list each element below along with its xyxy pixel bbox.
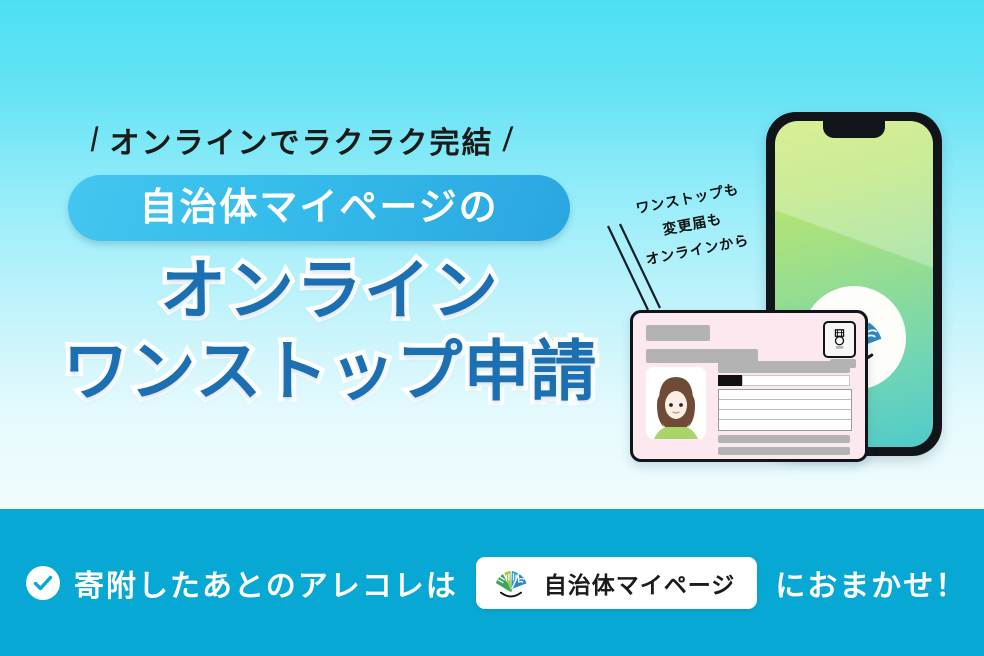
- footer-bar: 寄附したあとのアレコレは 自治体マイページ におまかせ！: [0, 509, 984, 656]
- jichitai-mypage-logo-chip[interactable]: 自治体マイページ: [476, 557, 758, 609]
- my-number-card: [630, 310, 868, 462]
- card-text-lines: [718, 389, 852, 431]
- phone-notch: [823, 121, 885, 138]
- headline-line-2: ワンストップ申請: [40, 331, 620, 412]
- card-redacted-bar-6: [718, 447, 850, 455]
- subtitle-pill-label: 自治体マイページの: [139, 189, 498, 227]
- card-redacted-bar-4: [830, 359, 856, 368]
- tagline: \ オンラインでラクラク完結 /: [88, 118, 515, 162]
- page-title: オンライン ワンストップ申請: [40, 250, 620, 411]
- footer-tail-text: におまかせ！: [775, 561, 967, 605]
- jichitai-mypage-fan-logo-icon: [490, 566, 532, 600]
- tagline-text: オンラインでラクラク完結: [109, 118, 493, 162]
- subtitle-pill: 自治体マイページの: [68, 175, 570, 241]
- jichitai-mypage-logo-label: 自治体マイページ: [544, 566, 736, 600]
- check-circle-icon: [26, 566, 60, 600]
- card-redacted-bar-1: [646, 325, 710, 341]
- card-black-marker: [718, 375, 742, 386]
- tagline-slash-left: \: [87, 121, 101, 160]
- footer-lead-text: 寄附したあとのアレコレは: [74, 561, 458, 605]
- card-white-field: [742, 375, 850, 386]
- my-number-chip-icon: [823, 321, 856, 358]
- promo-banner: \ オンラインでラクラク完結 / 自治体マイページの オンライン ワンストップ申…: [0, 0, 984, 656]
- tagline-slash-right: /: [502, 121, 516, 160]
- headline-line-1: オンライン: [40, 250, 620, 331]
- female-portrait-photo: [646, 367, 706, 439]
- card-redacted-bar-5: [718, 435, 850, 443]
